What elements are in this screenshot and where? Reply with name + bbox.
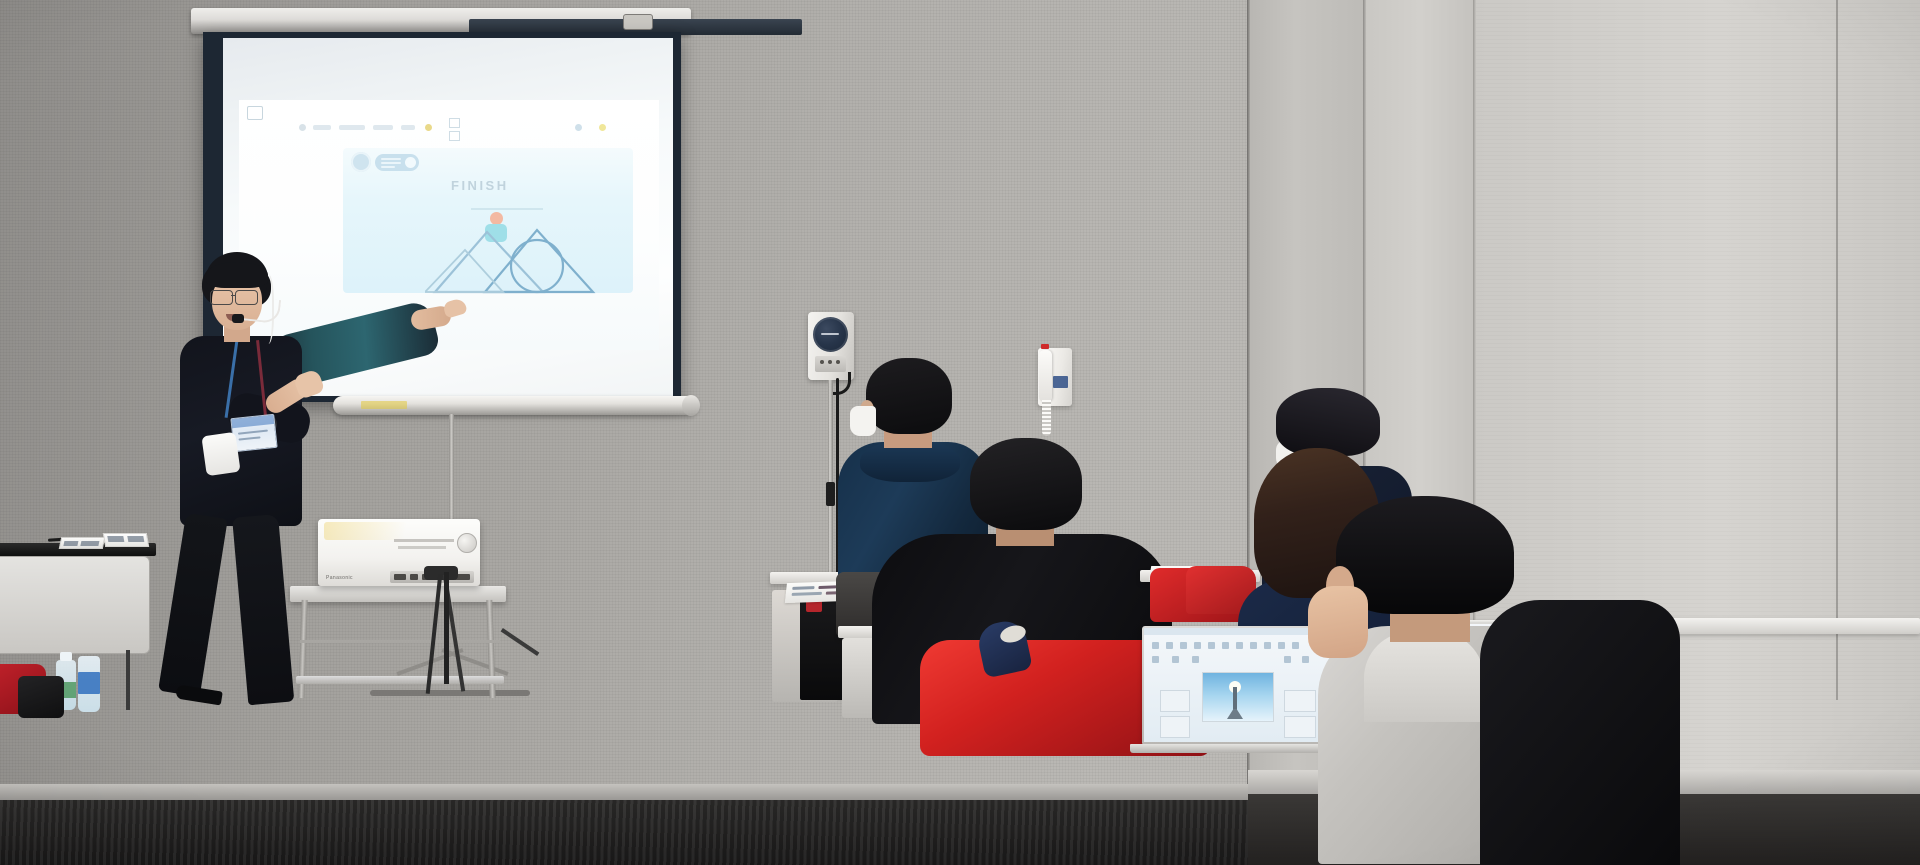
booklet-right-page <box>103 533 149 547</box>
attendee-far-right-edge <box>1480 600 1680 865</box>
badge-header <box>231 415 274 428</box>
projector-lens <box>457 533 477 553</box>
name-badge <box>230 414 277 452</box>
booklet-image <box>127 536 144 542</box>
headset-mic-capsule <box>232 314 244 323</box>
tower-base-icon <box>1227 709 1243 719</box>
desk-far-right-2 <box>1668 618 1920 634</box>
attendee-hand <box>1308 586 1368 658</box>
desktop-icon[interactable] <box>1194 642 1201 649</box>
wall-seam <box>1836 0 1838 700</box>
handout-line <box>792 592 822 596</box>
cart-lower-shelf <box>296 676 504 684</box>
attendee-hair <box>970 438 1082 530</box>
toolbar-dot-icon <box>299 124 306 131</box>
toggle-line <box>381 162 401 164</box>
projector-port <box>410 574 418 580</box>
bottle-label <box>78 672 100 694</box>
laptop-tile[interactable] <box>1160 716 1190 738</box>
booklet-image <box>63 541 78 546</box>
desktop-icon[interactable] <box>1264 642 1271 649</box>
open-booklet <box>60 533 148 549</box>
desktop-icon[interactable] <box>1192 656 1199 663</box>
handout-line <box>818 585 836 589</box>
projector-cart-top <box>290 586 506 602</box>
roller-end-cap <box>682 395 700 416</box>
desktop-icon[interactable] <box>1166 642 1173 649</box>
desktop-icon[interactable] <box>1152 656 1159 663</box>
toolbar-dot-icon <box>575 124 582 131</box>
projector-top-reflection <box>324 522 472 540</box>
speaker-knob[interactable] <box>820 360 824 364</box>
projector-brand-label: Panasonic <box>326 575 353 581</box>
slide-underline <box>471 208 543 210</box>
desktop-icon[interactable] <box>1180 642 1187 649</box>
handout-line <box>792 586 814 590</box>
attendee-hair <box>866 358 952 434</box>
speaker-knob[interactable] <box>828 360 832 364</box>
slide-toolbar <box>299 122 619 134</box>
black-bag <box>18 676 64 718</box>
booklet-image <box>80 541 99 546</box>
booklet-image <box>107 536 124 542</box>
presenter-hair-front <box>206 262 268 288</box>
speaker-cone-icon <box>813 317 848 352</box>
presenter <box>168 248 468 708</box>
desktop-icon[interactable] <box>1284 656 1291 663</box>
speaker-stand-collar[interactable] <box>826 482 835 506</box>
slide-heading: FINISH <box>451 178 509 193</box>
desktop-icon[interactable] <box>1152 642 1159 649</box>
handheld-device <box>201 432 240 476</box>
seminar-room-photo: FINISH <box>0 0 1920 865</box>
desktop-icon[interactable] <box>1208 642 1215 649</box>
presenter-leg <box>232 514 294 705</box>
phone-label <box>1053 376 1068 388</box>
phone-handset[interactable] <box>1039 350 1052 402</box>
presenter-pointing-hand <box>442 297 468 318</box>
cart-crossbar <box>300 640 500 643</box>
glasses-bridge <box>231 295 236 296</box>
floor <box>0 800 1250 865</box>
attendee-body <box>1480 600 1680 865</box>
browser-tab-icon <box>247 106 263 120</box>
presenter-legs <box>186 516 296 712</box>
toolbar-bar-icon <box>339 125 365 130</box>
tripod-leg <box>444 572 449 684</box>
toolbar-bar-icon <box>401 125 415 130</box>
desktop-icon[interactable] <box>1222 642 1229 649</box>
toggle-line <box>381 166 395 168</box>
headset-mic-boom <box>239 296 281 324</box>
attendee-shirt <box>1364 632 1484 722</box>
toolbar-bar-icon <box>313 125 331 130</box>
toggle-line <box>381 158 401 160</box>
projector-port <box>394 574 406 580</box>
badge-text-line <box>238 430 268 435</box>
phone-indicator-light <box>1041 344 1049 349</box>
toolbar-dot-icon <box>599 124 606 131</box>
face-mask <box>850 406 876 436</box>
screen-housing <box>191 8 691 34</box>
slide-avatar-icon <box>351 152 371 172</box>
projector-top-text <box>394 539 454 542</box>
desktop-icon[interactable] <box>1236 642 1243 649</box>
slide-toggle-icon <box>375 154 419 171</box>
presenter-leg <box>158 513 228 697</box>
presenter-shoe <box>175 684 223 705</box>
toolbar-chip-icon <box>449 118 460 128</box>
toolbar-chip-icon <box>449 131 460 141</box>
toolbar-dot-icon <box>425 124 432 131</box>
laptop-photo-tile[interactable] <box>1202 672 1274 722</box>
projector-top-text <box>398 546 446 549</box>
side-table-body <box>0 556 150 654</box>
glasses-lens <box>210 290 233 305</box>
screen-mount-bracket <box>623 14 653 30</box>
desktop-icon[interactable] <box>1250 642 1257 649</box>
desktop-icon[interactable] <box>1172 656 1179 663</box>
attendee-hair <box>1276 388 1380 456</box>
bottle-cap <box>60 652 72 661</box>
toolbar-bar-icon <box>373 125 393 130</box>
desktop-icon[interactable] <box>1278 642 1285 649</box>
booklet-left-page <box>59 537 106 549</box>
side-table-leg <box>126 650 130 710</box>
badge-text-line <box>239 436 261 440</box>
phone-coiled-cord <box>1042 400 1051 436</box>
laptop-tile[interactable] <box>1160 690 1190 712</box>
